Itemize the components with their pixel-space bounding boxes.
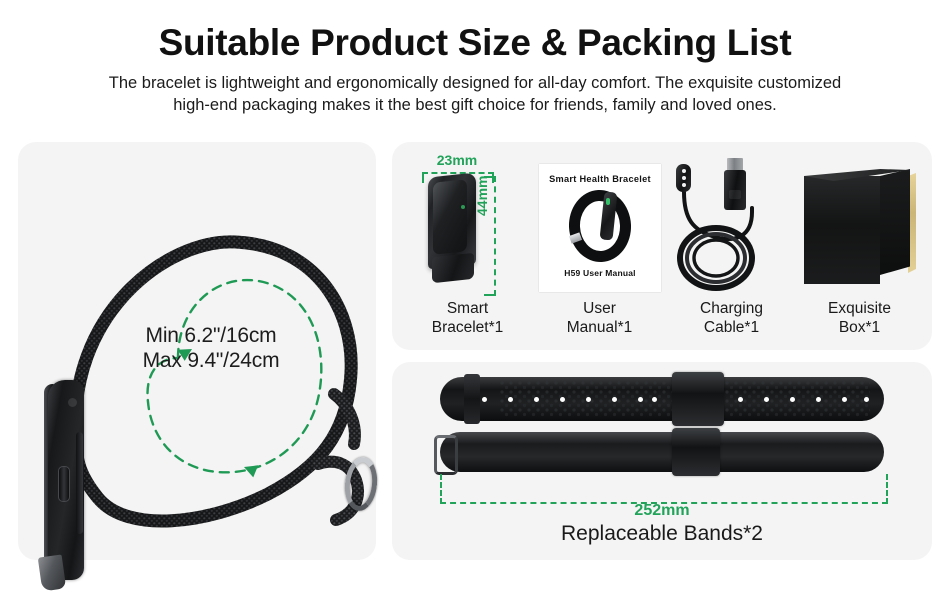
gift-box-front-face (804, 176, 880, 284)
bracelet-head-base (432, 253, 474, 283)
height-dimension-label: 44mm (474, 176, 490, 216)
usb-a-connector (724, 158, 746, 210)
packing-item-caption: Exquisite Box*1 (792, 300, 927, 337)
charger-pin (682, 183, 686, 187)
band-length-dimension-guide (440, 474, 888, 504)
band-keeper-ring (434, 435, 458, 475)
caption-line-1: Charging (700, 300, 763, 317)
watch-metal-clip (38, 554, 66, 591)
magnetic-charger-puck (676, 164, 691, 192)
smooth-band-strap (440, 432, 884, 472)
gift-box (804, 166, 920, 288)
charging-cable-illustration (664, 150, 799, 300)
exquisite-box-illustration (792, 150, 927, 300)
smooth-band (440, 432, 884, 472)
bracelet-sensor-dot (461, 205, 465, 209)
band-buckle (672, 428, 720, 476)
caption-line-1: User (583, 300, 616, 317)
usb-emboss (729, 190, 741, 199)
smart-bracelet-illustration: 23mm 44mm (400, 150, 535, 300)
bracelet-head-screen (433, 179, 467, 255)
packing-item-exquisite-box: Exquisite Box*1 (792, 150, 927, 350)
bands-illustration: 252mm Replaceable Bands*2 (392, 362, 932, 560)
band-length-label: 252mm (392, 502, 932, 520)
product-infographic: Suitable Product Size & Packing List The… (0, 0, 950, 587)
packing-list-panel: 23mm 44mm Smart Bracelet*1 (392, 142, 932, 350)
wrist-size-text: Min 6.2"/16cm Max 9.4"/24cm (106, 324, 316, 374)
header: Suitable Product Size & Packing List The… (0, 0, 950, 116)
bracelet-loop-illustration: Min 6.2"/16cm Max 9.4"/24cm (18, 142, 376, 560)
wrist-size-panel: Min 6.2"/16cm Max 9.4"/24cm (18, 142, 376, 560)
packing-item-caption: User Manual*1 (532, 300, 667, 337)
caption-line-2: Bracelet*1 (400, 319, 535, 338)
caption-line-2: Cable*1 (664, 319, 799, 338)
manual-cover: Smart Health Bracelet H59 User Manual (539, 164, 661, 292)
subtitle-line-1: The bracelet is lightweight and ergonomi… (109, 74, 842, 92)
manual-cover-title: Smart Health Bracelet (539, 174, 661, 184)
band-buckle (672, 372, 724, 426)
bands-caption: Replaceable Bands*2 (392, 522, 932, 546)
caption-line-1: Smart (447, 300, 488, 317)
caption-line-2: Manual*1 (532, 319, 667, 338)
user-manual-illustration: Smart Health Bracelet H59 User Manual (532, 150, 667, 300)
manual-cover-subtitle: H59 User Manual (539, 268, 661, 278)
packing-item-smart-bracelet: 23mm 44mm Smart Bracelet*1 (400, 150, 535, 350)
page-title: Suitable Product Size & Packing List (0, 0, 950, 63)
bracelet-head-body (428, 175, 476, 280)
gift-box-side-face (880, 169, 910, 275)
watch-side-rail (76, 432, 83, 534)
band-adjustment-holes (440, 377, 884, 421)
packing-item-caption: Charging Cable*1 (664, 300, 799, 337)
wrist-size-max: Max 9.4"/24cm (106, 349, 316, 374)
packing-items-row: 23mm 44mm Smart Bracelet*1 (392, 142, 932, 350)
watch-side-button (58, 466, 70, 502)
watch-case-highlight (68, 398, 77, 407)
packing-item-caption: Smart Bracelet*1 (400, 300, 535, 337)
charger-pin (682, 176, 686, 180)
caption-line-1: Exquisite (828, 300, 891, 317)
watch-body-side-view (42, 380, 88, 592)
packing-item-charging-cable: Charging Cable*1 (664, 150, 799, 350)
manual-cover-green-led (606, 198, 610, 205)
charger-pin (682, 169, 686, 173)
packing-item-user-manual: Smart Health Bracelet H59 User Manual Us… (532, 150, 667, 350)
replaceable-bands-panel: 252mm Replaceable Bands*2 (392, 362, 932, 560)
usb-housing (724, 170, 746, 210)
subtitle-line-2: high-end packaging makes it the best gif… (173, 96, 777, 114)
perforated-band (440, 377, 884, 421)
width-dimension-label: 23mm (414, 152, 500, 168)
wrist-size-min: Min 6.2"/16cm (106, 324, 316, 349)
caption-line-2: Box*1 (792, 319, 927, 338)
page-subtitle: The bracelet is lightweight and ergonomi… (45, 72, 905, 117)
